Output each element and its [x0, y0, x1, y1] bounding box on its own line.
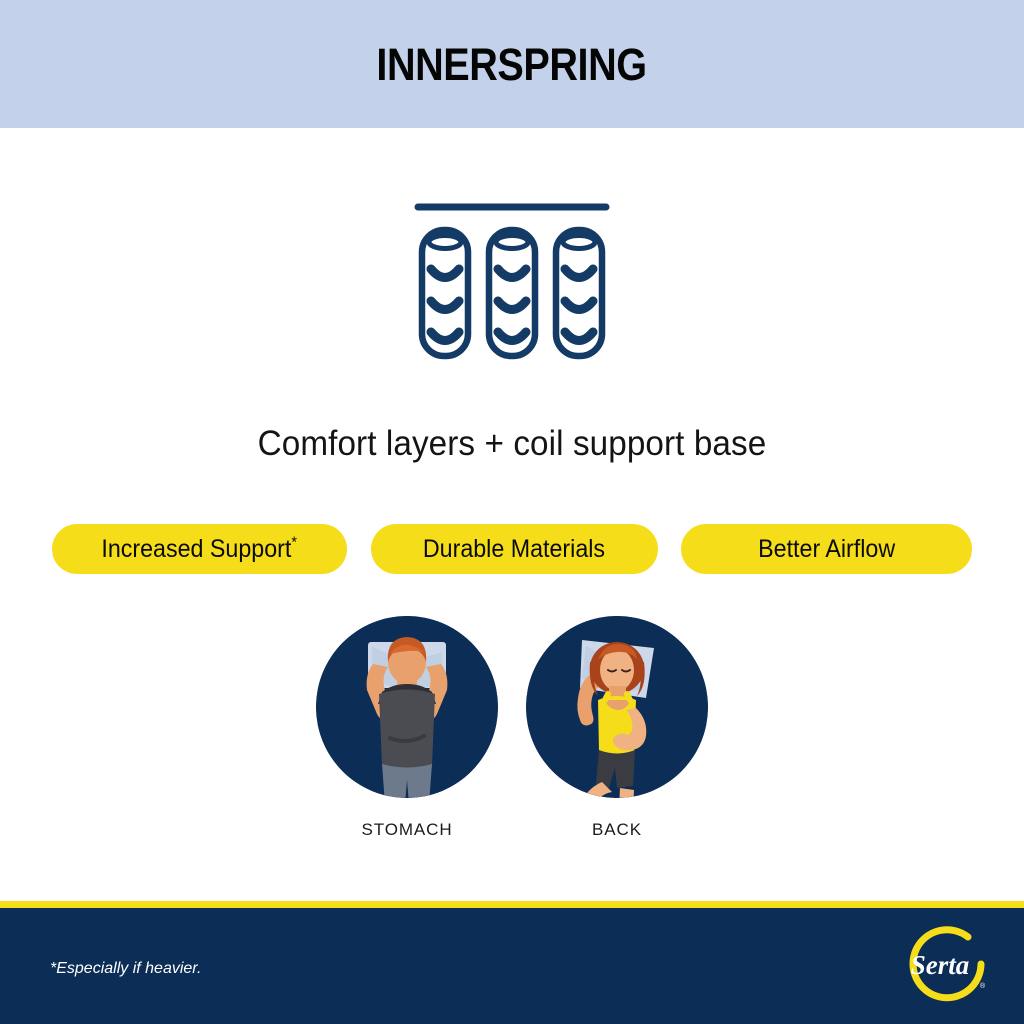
registered-mark: ® — [980, 982, 986, 990]
subtitle: Comfort layers + coil support base — [26, 424, 999, 464]
benefit-pill-row: Increased Support* Durable Materials Bet… — [52, 524, 972, 574]
coil-illustration — [0, 185, 1024, 365]
sleep-position-stomach: STOMACH — [316, 616, 498, 840]
benefit-pill-text: Better Airflow — [758, 535, 895, 563]
benefit-pill-label: Better Airflow — [758, 537, 895, 562]
serta-logo: Serta ® — [896, 926, 990, 1006]
back-sleeper-illustration — [526, 616, 708, 798]
benefit-pill-label: Durable Materials — [423, 537, 605, 562]
serta-logo-icon: Serta ® — [896, 926, 990, 1006]
sleep-position-back: BACK — [526, 616, 708, 840]
footer-accent-stripe — [0, 901, 1024, 908]
header-band: INNERSPRING — [0, 0, 1024, 128]
sleep-position-label-back: BACK — [592, 820, 642, 840]
serta-wordmark: Serta — [911, 950, 970, 980]
benefit-pill-text: Durable Materials — [423, 535, 605, 563]
page-title: INNERSPRING — [377, 42, 647, 87]
sleep-position-label-stomach: STOMACH — [362, 820, 453, 840]
benefit-pill-durable-materials[interactable]: Durable Materials — [371, 524, 658, 574]
benefit-pill-text: Increased Support — [102, 535, 292, 563]
benefit-pill-better-airflow[interactable]: Better Airflow — [681, 524, 972, 574]
back-sleeper-circle — [526, 616, 708, 798]
innerspring-infographic: INNERSPRING — [0, 0, 1024, 1024]
footer-bar: *Especially if heavier. Serta ® — [0, 908, 1024, 1024]
benefit-pill-increased-support[interactable]: Increased Support* — [52, 524, 347, 574]
stomach-sleeper-circle — [316, 616, 498, 798]
sleep-position-row: STOMACH — [0, 616, 1024, 840]
footnote-text: *Especially if heavier. — [50, 960, 201, 978]
coil-springs-icon — [412, 185, 612, 365]
benefit-pill-label: Increased Support* — [102, 537, 298, 562]
footnote-marker: * — [292, 534, 298, 551]
stomach-sleeper-illustration — [316, 616, 498, 798]
